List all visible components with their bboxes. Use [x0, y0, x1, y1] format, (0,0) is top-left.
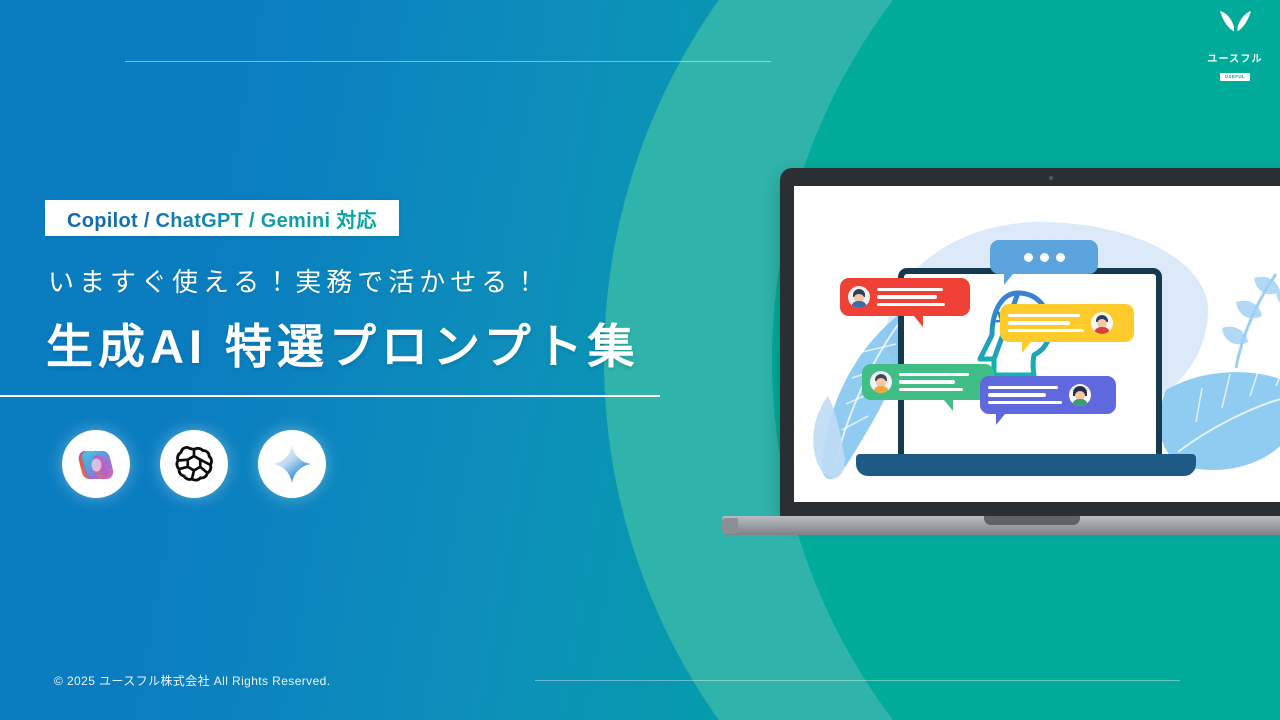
- compatibility-badge: Copilot / ChatGPT / Gemini 対応: [45, 200, 399, 236]
- laptop-illustration: AI: [722, 168, 1280, 543]
- slide-subheadline: いますぐ使える！実務で活かせる！: [48, 262, 543, 299]
- chat-bubble-yellow: [1000, 304, 1134, 342]
- copilot-logo-icon: [74, 442, 118, 486]
- typing-dot: [1056, 253, 1065, 262]
- top-divider-rule: [125, 61, 771, 62]
- typing-dot: [1024, 253, 1033, 262]
- gemini-sparkle-logo-icon: [271, 443, 313, 485]
- chat-bubble-typing: [990, 240, 1098, 274]
- corporate-logo-name: ユースフル: [1196, 50, 1274, 65]
- avatar: [1091, 312, 1113, 334]
- corporate-logo-sublabel: USEFUL: [1220, 73, 1250, 81]
- corporate-logo: ユースフル USEFUL: [1196, 8, 1274, 83]
- brand-logo-row: [62, 430, 326, 498]
- headline-underline-rule: [0, 395, 660, 397]
- laptop-base-notch: [984, 516, 1080, 525]
- openai-chatgpt-logo-icon: [174, 444, 214, 484]
- laptop-lid: AI: [780, 168, 1280, 518]
- avatar: [1069, 384, 1091, 406]
- title-slide: AI: [0, 0, 1280, 720]
- bottom-divider-rule: [535, 680, 1180, 681]
- monitor-stand: [856, 454, 1196, 476]
- avatar: [870, 371, 892, 393]
- laptop-base-foot: [722, 518, 738, 534]
- typing-dot: [1040, 253, 1049, 262]
- chatgpt-logo-badge[interactable]: [160, 430, 228, 498]
- chat-bubble-red: [840, 278, 970, 316]
- slide-headline: 生成AI 特選プロンプト集: [46, 308, 640, 377]
- copyright-footer: © 2025 ユースフル株式会社 All Rights Reserved.: [54, 672, 330, 689]
- compatibility-badge-label: Copilot / ChatGPT / Gemini 対応: [67, 204, 377, 233]
- laptop-camera-icon: [1049, 176, 1053, 180]
- y-mark-icon: [1196, 8, 1274, 48]
- gemini-logo-badge[interactable]: [258, 430, 326, 498]
- copilot-logo-badge[interactable]: [62, 430, 130, 498]
- laptop-screen: AI: [794, 186, 1280, 502]
- ai-chat-illustration: AI: [794, 186, 1280, 502]
- avatar: [848, 286, 870, 308]
- chat-bubble-periwinkle: [980, 376, 1116, 414]
- chat-bubble-green: [862, 364, 994, 400]
